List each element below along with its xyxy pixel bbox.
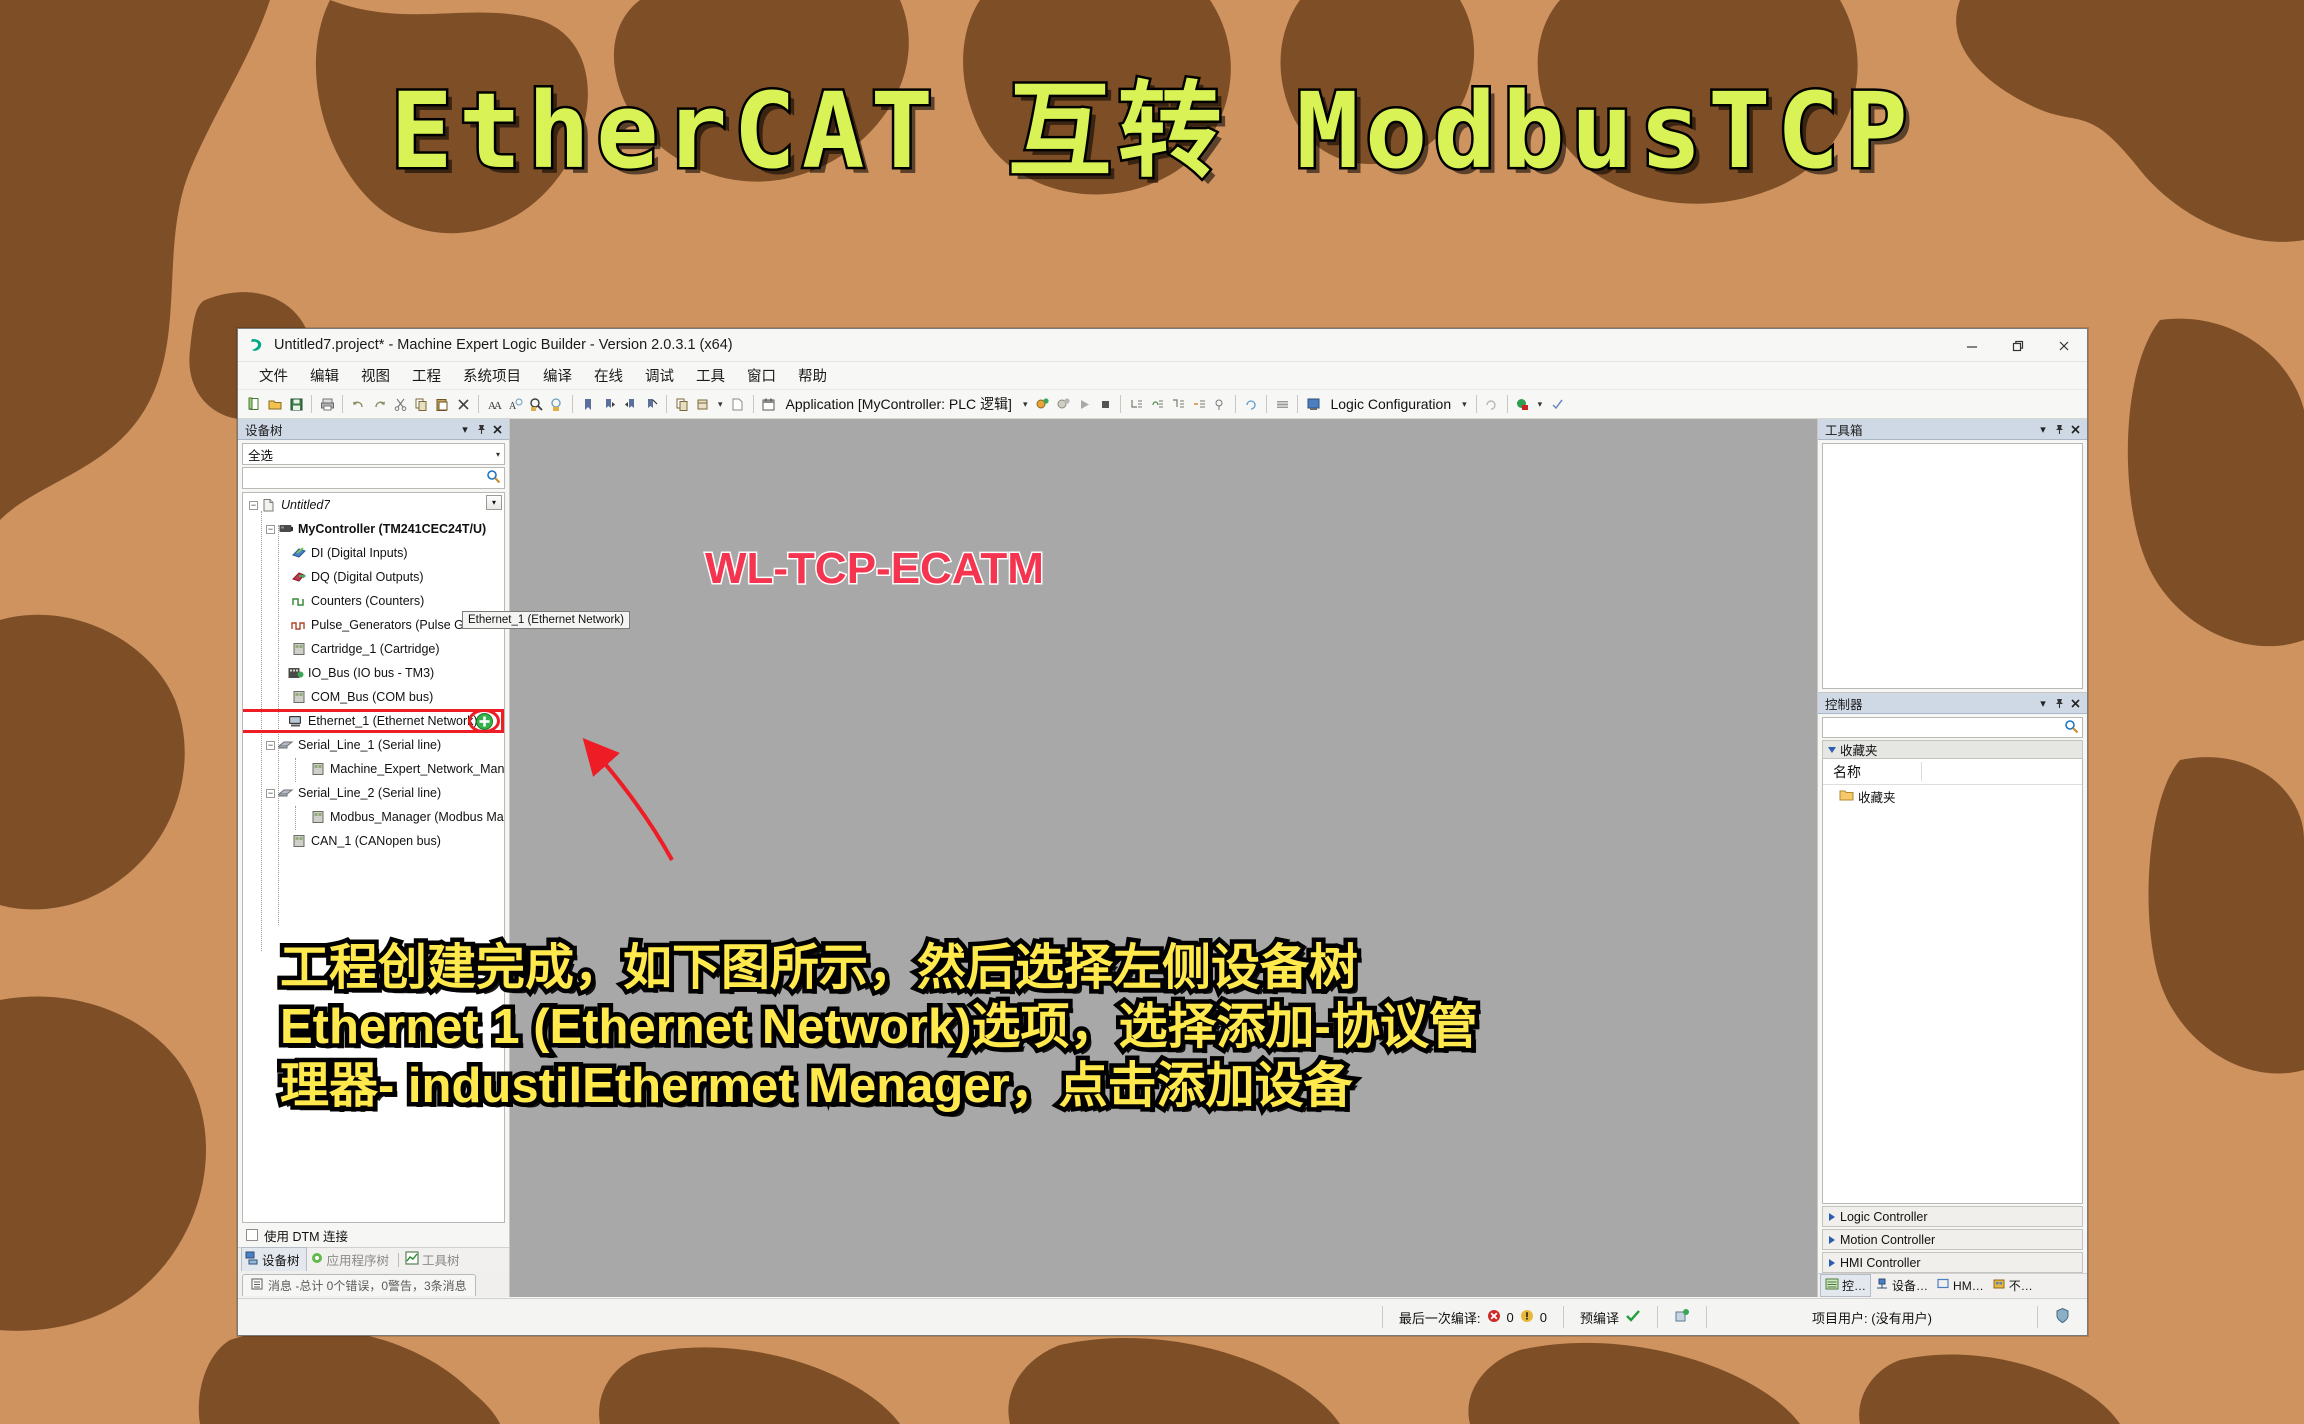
- tree-node-project[interactable]: − Untitled7: [243, 493, 504, 517]
- cut-icon[interactable]: [390, 394, 410, 415]
- use-dtm-label: 使用 DTM 连接: [264, 1226, 348, 1245]
- app-logo-icon: [247, 335, 267, 355]
- close-panel-icon[interactable]: [2067, 421, 2083, 437]
- caption-line-3: 理器- industilEthermet Menager，点击添加设备: [280, 1058, 1478, 1115]
- tree-node-label: COM_Bus (COM bus): [311, 690, 433, 704]
- device-tree-panel: 设备树 ▾ 全选 ▾ ▾: [238, 419, 510, 1297]
- tab-application-tree[interactable]: 应用程序树: [307, 1248, 396, 1271]
- favorites-group-label: 收藏夹: [1840, 740, 1878, 759]
- logout-icon[interactable]: [1053, 394, 1073, 415]
- step-over-icon[interactable]: [1147, 394, 1167, 415]
- toolbox-panel-title: 工具箱: [1825, 420, 2035, 439]
- tab-label: 应用程序树: [327, 1250, 390, 1269]
- controller-icon: [277, 521, 294, 538]
- device-view-icon[interactable]: [1303, 394, 1323, 415]
- window-body: 设备树 ▾ 全选 ▾ ▾: [238, 419, 2087, 1297]
- tools-tree-icon: [405, 1251, 419, 1268]
- list-item-label: 收藏夹: [1858, 787, 1896, 806]
- calendar-icon[interactable]: [759, 394, 779, 415]
- tree-node-modbus-manager[interactable]: Modbus_Manager (Modbus Manager): [243, 805, 504, 829]
- find-icon[interactable]: AA: [484, 394, 504, 415]
- breakpoint-icon[interactable]: [1210, 394, 1230, 415]
- last-build-label: 最后一次编译:: [1399, 1308, 1481, 1327]
- controller-panel: 控制器 ▾ 收藏夹: [1818, 693, 2087, 1297]
- hmi-tab-icon: [1936, 1278, 1950, 1293]
- warning-icon: [1520, 1309, 1534, 1326]
- module-icon: [290, 641, 307, 658]
- messages-tab[interactable]: 消息 -总计 0个错误，0警告，3条消息: [242, 1274, 476, 1296]
- properties-icon[interactable]: [672, 394, 692, 415]
- category-hmi-controller[interactable]: HMI Controller: [1822, 1252, 2083, 1273]
- menu-item-online[interactable]: 在线: [583, 362, 634, 389]
- pin-icon[interactable]: [473, 421, 489, 437]
- tab-hmi[interactable]: HM…: [1932, 1276, 1988, 1295]
- chevron-right-icon[interactable]: [1829, 1213, 1835, 1221]
- window-titlebar: Untitled7.project* - Machine Expert Logi…: [238, 329, 2087, 362]
- project-user-status: 项目用户: (没有用户): [1707, 1299, 2037, 1335]
- menu-item-help[interactable]: 帮助: [787, 362, 838, 389]
- shield-icon: [2054, 1307, 2071, 1327]
- caption-line-1: 工程创建完成，如下图所示，然后选择左侧设备树: [280, 940, 1478, 997]
- application-window: Untitled7.project* - Machine Expert Logi…: [237, 328, 2088, 1336]
- tree-node-label: MyController (TM241CEC24T/U): [298, 522, 486, 536]
- use-dtm-connection-row[interactable]: 使用 DTM 连接: [238, 1223, 509, 1247]
- tree-node-label: Cartridge_1 (Cartridge): [311, 642, 440, 656]
- canvas-annotation-label: WL-TCP-ECATM: [705, 544, 1044, 594]
- tab-misc[interactable]: 不…: [1988, 1275, 2037, 1296]
- search-icon[interactable]: [2064, 719, 2079, 737]
- undo-icon[interactable]: [348, 394, 368, 415]
- tab-label: 不…: [2009, 1277, 2033, 1294]
- redo-icon[interactable]: [369, 394, 389, 415]
- category-label: Logic Controller: [1840, 1210, 1928, 1224]
- secure-connect-icon[interactable]: [1513, 394, 1533, 415]
- tree-node-label: Untitled7: [281, 498, 330, 512]
- tab-label: 控…: [1842, 1277, 1866, 1294]
- panel-menu-icon[interactable]: ▾: [2035, 421, 2051, 437]
- menu-item-window[interactable]: 窗口: [736, 362, 787, 389]
- right-dock: 工具箱 ▾ 控制器 ▾: [1817, 419, 2087, 1297]
- tree-node-label: Ethernet_1 (Ethernet Network): [308, 714, 478, 728]
- step-out-icon[interactable]: [1168, 394, 1188, 415]
- tab-label: 设备…: [1892, 1277, 1928, 1294]
- tree-node-label: Counters (Counters): [311, 594, 424, 608]
- precompile-label: 预编译: [1580, 1308, 1619, 1327]
- expander-icon[interactable]: −: [266, 789, 275, 798]
- tree-node-label: DQ (Digital Outputs): [311, 570, 424, 584]
- menu-item-file[interactable]: 文件: [248, 362, 299, 389]
- io-bus-icon: [287, 665, 304, 682]
- device-tree-icon: [245, 1251, 259, 1268]
- devices-tab-icon: [1875, 1278, 1889, 1293]
- find-prev-icon[interactable]: [547, 394, 567, 415]
- print-icon[interactable]: [317, 394, 337, 415]
- menu-item-project[interactable]: 工程: [401, 362, 452, 389]
- module-icon: [290, 689, 307, 706]
- tree-node-serial-line-2[interactable]: − Serial_Line_2 (Serial line): [243, 781, 504, 805]
- menu-item-build[interactable]: 编译: [532, 362, 583, 389]
- device-tree-panel-title: 设备树: [245, 420, 457, 439]
- device-tree-panel-header: 设备树 ▾: [238, 419, 509, 440]
- module-icon: [309, 761, 326, 778]
- pulse-icon: [290, 617, 307, 634]
- paste-icon[interactable]: [432, 394, 452, 415]
- menu-item-debug[interactable]: 调试: [634, 362, 685, 389]
- tree-node-label: CAN_1 (CANopen bus): [311, 834, 441, 848]
- close-button[interactable]: [2041, 329, 2087, 362]
- tree-node-label: IO_Bus (IO bus - TM3): [308, 666, 434, 680]
- expander-icon[interactable]: −: [249, 501, 258, 510]
- window-title: Untitled7.project* - Machine Expert Logi…: [274, 337, 733, 353]
- configuration-selector-caret-icon[interactable]: ▾: [1458, 399, 1471, 410]
- panel-menu-icon[interactable]: ▾: [457, 421, 473, 437]
- last-build-status: 最后一次编译: 0 0: [1383, 1299, 1563, 1335]
- new-doc-icon[interactable]: [728, 394, 748, 415]
- project-icon: [260, 497, 277, 514]
- application-selector-caret-icon[interactable]: ▾: [1019, 399, 1032, 410]
- tree-node-com-bus[interactable]: COM_Bus (COM bus): [243, 685, 504, 709]
- digital-output-icon: [290, 569, 307, 586]
- prev-bookmark-icon[interactable]: [620, 394, 640, 415]
- connection-icon: [1674, 1308, 1690, 1327]
- bookmark-icon[interactable]: [578, 394, 598, 415]
- menu-item-view[interactable]: 视图: [350, 362, 401, 389]
- controller-tab-icon: [1825, 1278, 1839, 1293]
- chevron-right-icon[interactable]: [1829, 1259, 1835, 1267]
- close-panel-icon[interactable]: [2067, 695, 2083, 711]
- list-item[interactable]: 收藏夹: [1823, 785, 2082, 807]
- close-panel-icon[interactable]: [489, 421, 505, 437]
- tree-node-counters[interactable]: Counters (Counters): [243, 589, 504, 613]
- precompile-status: 预编译: [1564, 1299, 1657, 1335]
- toolbox-panel-header: 工具箱 ▾: [1818, 419, 2087, 440]
- maximize-button[interactable]: [1995, 329, 2041, 362]
- controller-search-input[interactable]: [1823, 721, 2064, 735]
- category-label: HMI Controller: [1840, 1256, 1921, 1270]
- tree-node-label: Serial_Line_2 (Serial line): [298, 786, 441, 800]
- panel-menu-icon[interactable]: ▾: [2035, 695, 2051, 711]
- tree-node-io-bus[interactable]: IO_Bus (IO bus - TM3): [243, 661, 504, 685]
- left-panel-tabs: 设备树 应用程序树 工具树: [238, 1247, 509, 1271]
- category-logic-controller[interactable]: Logic Controller: [1822, 1206, 2083, 1227]
- sync-icon[interactable]: [1482, 394, 1502, 415]
- filter-chevron-down-icon[interactable]: ▾: [496, 450, 500, 459]
- search-icon[interactable]: [486, 469, 501, 487]
- insert-object-icon[interactable]: [693, 394, 713, 415]
- tree-node-serial-line-1[interactable]: − Serial_Line_1 (Serial line): [243, 733, 504, 757]
- use-dtm-checkbox[interactable]: [246, 1229, 258, 1241]
- refresh-icon[interactable]: [1241, 394, 1261, 415]
- check-config-icon[interactable]: [1547, 394, 1567, 415]
- minimize-button[interactable]: [1949, 329, 1995, 362]
- messages-label: 消息 -总计 0个错误，0警告，3条消息: [268, 1277, 467, 1294]
- device-tree-filter-value: 全选: [248, 445, 496, 464]
- caption-overlay: 工程创建完成，如下图所示，然后选择左侧设备树 Ethernet 1 (Ether…: [280, 940, 1478, 1116]
- tree-node-dq[interactable]: DQ (Digital Outputs): [243, 565, 504, 589]
- error-icon: [1487, 1309, 1501, 1326]
- toolbar: AA A ▾ Application [MyController: PLC 逻辑…: [238, 390, 2087, 419]
- chevron-down-icon[interactable]: [1828, 747, 1836, 753]
- controller-search-row[interactable]: [1822, 717, 2083, 738]
- folder-icon: [1839, 788, 1854, 805]
- pin-icon[interactable]: [2051, 695, 2067, 711]
- device-tree-search-input[interactable]: [248, 471, 486, 485]
- toolbox-panel: 工具箱 ▾: [1818, 419, 2087, 693]
- error-count: 0: [1507, 1310, 1514, 1325]
- save-icon[interactable]: [286, 394, 306, 415]
- application-tree-icon: [310, 1251, 324, 1268]
- menu-item-tools[interactable]: 工具: [685, 362, 736, 389]
- name-column-label: 名称: [1833, 762, 1861, 782]
- tree-node-machine-expert-network-manager[interactable]: Machine_Expert_Network_Manager (Machine …: [243, 757, 504, 781]
- tree-node-di[interactable]: DI (Digital Inputs): [243, 541, 504, 565]
- serial-line-icon: [277, 785, 294, 802]
- category-label: Motion Controller: [1840, 1233, 1935, 1247]
- right-panel-tabs: 控… 设备… HM…: [1818, 1273, 2087, 1297]
- caption-line-2: Ethernet 1 (Ethernet Network)选项，选择添加-协议管: [280, 999, 1478, 1056]
- tree-node-label: Modbus_Manager (Modbus Manager): [330, 810, 504, 824]
- menu-item-system-project[interactable]: 系统项目: [452, 362, 532, 389]
- tree-node-ethernet-1[interactable]: Ethernet_1 (Ethernet Network): [243, 709, 504, 733]
- serial-line-icon: [277, 737, 294, 754]
- messages-icon: [251, 1278, 263, 1293]
- module-icon: [309, 809, 326, 826]
- statusbar: 最后一次编译: 0 0 预编译 项目用户: (没有用户): [238, 1298, 2087, 1335]
- tree-node-mycontroller[interactable]: − MyController (TM241CEC24T/U): [243, 517, 504, 541]
- tab-controller[interactable]: 控…: [1820, 1274, 1871, 1297]
- editor-canvas[interactable]: WL-TCP-ECATM Ethernet_1 (Ethernet Networ…: [510, 419, 1817, 1297]
- device-tooltip: Ethernet_1 (Ethernet Network): [462, 611, 630, 629]
- annotation-circle: [468, 709, 500, 733]
- favorites-group-header[interactable]: 收藏夹: [1822, 740, 2083, 759]
- tree-node-label: Serial_Line_1 (Serial line): [298, 738, 441, 752]
- expander-icon[interactable]: −: [266, 525, 275, 534]
- check-icon: [1625, 1309, 1641, 1326]
- shield-status: [2038, 1299, 2087, 1335]
- find-next-icon[interactable]: [526, 394, 546, 415]
- stop-icon[interactable]: [1095, 394, 1115, 415]
- page-title: EtherCAT 互转 ModbusTCP: [0, 46, 2304, 197]
- replace-icon[interactable]: A: [505, 394, 525, 415]
- digital-input-icon: [290, 545, 307, 562]
- tree-node-cartridge[interactable]: Cartridge_1 (Cartridge): [243, 637, 504, 661]
- expander-icon[interactable]: −: [266, 741, 275, 750]
- pin-icon[interactable]: [2051, 421, 2067, 437]
- next-bookmark-icon[interactable]: [599, 394, 619, 415]
- tab-label: 工具树: [422, 1250, 460, 1269]
- tab-label: 设备树: [262, 1250, 300, 1269]
- tree-node-label: DI (Digital Inputs): [311, 546, 408, 560]
- new-file-icon[interactable]: [244, 394, 264, 415]
- menubar: 文件 编辑 视图 工程 系统项目 编译 在线 调试 工具 窗口 帮助: [238, 362, 2087, 390]
- project-user-label: 项目用户: (没有用户): [1812, 1308, 1932, 1327]
- run-icon[interactable]: [1074, 394, 1094, 415]
- device-tree-search-row[interactable]: [242, 467, 505, 489]
- tab-label: HM…: [1953, 1279, 1984, 1293]
- connection-status: [1658, 1299, 1706, 1335]
- counter-icon: [290, 593, 307, 610]
- configuration-selector-label[interactable]: Logic Configuration: [1324, 396, 1457, 412]
- login-icon[interactable]: [1032, 394, 1052, 415]
- tree-node-can-1[interactable]: CAN_1 (CANopen bus): [243, 829, 504, 853]
- menu-item-edit[interactable]: 编辑: [299, 362, 350, 389]
- controller-panel-header: 控制器 ▾: [1818, 693, 2087, 714]
- ethernet-icon: [287, 713, 304, 730]
- application-selector-label[interactable]: Application [MyController: PLC 逻辑]: [780, 394, 1018, 414]
- open-file-icon[interactable]: [265, 394, 285, 415]
- tab-device-tree[interactable]: 设备树: [241, 1247, 307, 1272]
- tree-node-label: Machine_Expert_Network_Manager (Machine …: [330, 762, 504, 776]
- warning-count: 0: [1540, 1310, 1547, 1325]
- build-icon[interactable]: [1272, 394, 1292, 415]
- run-to-cursor-icon[interactable]: [1189, 394, 1209, 415]
- clear-bookmarks-icon[interactable]: [641, 394, 661, 415]
- delete-icon[interactable]: [453, 394, 473, 415]
- step-into-icon[interactable]: [1126, 394, 1146, 415]
- favorites-list[interactable]: 名称 收藏夹: [1822, 759, 2083, 1204]
- favorites-column-header: 名称: [1823, 759, 2082, 785]
- tab-devices[interactable]: 设备…: [1871, 1275, 1932, 1296]
- chevron-right-icon[interactable]: [1829, 1236, 1835, 1244]
- module-icon: [290, 833, 307, 850]
- copy-icon[interactable]: [411, 394, 431, 415]
- controller-panel-title: 控制器: [1825, 694, 2035, 713]
- misc-tab-icon: [1992, 1278, 2006, 1293]
- tab-tools-tree[interactable]: 工具树: [402, 1248, 466, 1271]
- device-tree-filter-combo[interactable]: 全选 ▾: [242, 443, 505, 465]
- toolbox-content[interactable]: [1822, 443, 2083, 689]
- window-controls: [1949, 329, 2087, 362]
- category-motion-controller[interactable]: Motion Controller: [1822, 1229, 2083, 1250]
- svg-text:A: A: [494, 400, 502, 412]
